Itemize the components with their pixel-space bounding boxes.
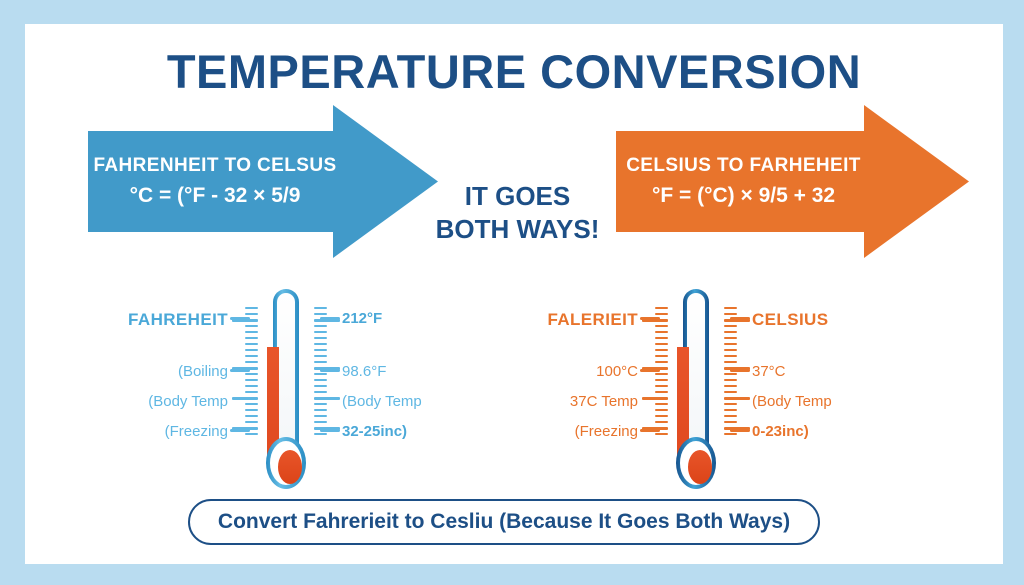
scale-tick-minor <box>314 379 327 381</box>
fahrenheit-thermometer-group: FAHREHEIT (Boiling (Body Temp (Freezing … <box>70 289 500 494</box>
scale-tick-minor <box>245 415 258 417</box>
scale-tick-minor <box>245 391 258 393</box>
scale-tick-minor <box>245 307 258 309</box>
scale-tick-minor <box>245 361 258 363</box>
scale-tick-minor <box>314 433 327 435</box>
scale-tick-minor <box>245 433 258 435</box>
arrow-right-formula: °F = (°C) × 9/5 + 32 <box>652 184 835 207</box>
thermometer-stem-inner <box>277 293 295 458</box>
connector-dash <box>730 369 750 372</box>
center-caption: IT GOES BOTH WAYS! <box>420 180 615 247</box>
thermo-left-label-2: (Body Temp <box>148 394 228 409</box>
scale-tick-minor <box>245 373 258 375</box>
scale-tick-minor <box>245 385 258 387</box>
scale-tick-minor <box>655 361 668 363</box>
connector-dash <box>640 429 660 432</box>
scale-tick-minor <box>245 337 258 339</box>
arrow-right-label: CELSIUS TO FARHEHEIT <box>626 156 861 177</box>
scale-tick-minor <box>655 391 668 393</box>
scale-tick-minor <box>314 331 327 333</box>
connector-dash <box>640 369 660 372</box>
connector-dash <box>230 317 250 320</box>
scale-tick-minor <box>724 313 737 315</box>
scale-tick-minor <box>314 337 327 339</box>
scale-tick-minor <box>245 343 258 345</box>
thermo-right-label-0: CELSIUS <box>752 311 828 328</box>
thermometer-icon <box>260 289 312 494</box>
scale-tick-major <box>314 397 340 400</box>
scale-tick-minor <box>655 373 668 375</box>
scale-tick-minor <box>724 355 737 357</box>
fahrenheit-to-celsius-arrow: FAHRENHEIT TO CELSUS °C = (°F - 32 × 5/9 <box>88 105 438 258</box>
scale-tick-minor <box>245 355 258 357</box>
connector-dash <box>230 429 250 432</box>
scale-tick-minor <box>724 391 737 393</box>
page-title: TEMPERATURE CONVERSION <box>25 44 1003 99</box>
thermo-left-label-1: (Boiling <box>178 364 228 379</box>
scale-tick-minor <box>314 421 327 423</box>
thermo-left-label-2: 37C Temp <box>570 394 638 409</box>
scale-tick-minor <box>314 361 327 363</box>
scale-tick-minor <box>724 331 737 333</box>
scale-tick-minor <box>314 403 327 405</box>
scale-tick-major <box>232 397 258 400</box>
thermo-right-label-1: 98.6°F <box>342 364 386 379</box>
thermometer-bulb <box>676 437 716 489</box>
scale-tick-minor <box>314 307 327 309</box>
scale-tick-minor <box>724 385 737 387</box>
thermo-left-label-3: (Freezing <box>575 424 638 439</box>
scale-tick-minor <box>245 325 258 327</box>
thermometer-scale-right <box>724 307 754 439</box>
scale-tick-minor <box>655 379 668 381</box>
scale-tick-minor <box>314 343 327 345</box>
scale-tick-minor <box>724 349 737 351</box>
scale-tick-minor <box>314 385 327 387</box>
connector-dash <box>320 369 340 372</box>
scale-tick-minor <box>314 349 327 351</box>
scale-tick-minor <box>724 421 737 423</box>
scale-tick-minor <box>724 403 737 405</box>
scale-tick-minor <box>655 307 668 309</box>
scale-tick-minor <box>314 391 327 393</box>
scale-tick-minor <box>724 325 737 327</box>
scale-tick-minor <box>245 313 258 315</box>
thermometer-icon <box>670 289 722 494</box>
scale-tick-minor <box>314 409 327 411</box>
white-card: TEMPERATURE CONVERSION FAHRENHEIT TO CEL… <box>25 24 1003 564</box>
thermo-right-label-3: 0-23inc) <box>752 424 809 439</box>
scale-tick-minor <box>655 409 668 411</box>
thermo-right-label-3: 32-25inc) <box>342 424 407 439</box>
scale-tick-minor <box>314 373 327 375</box>
thermometer-bulb-inner <box>680 441 712 485</box>
center-caption-line1: IT GOES <box>420 180 615 213</box>
thermometer-scale-left <box>228 307 258 439</box>
scale-tick-minor <box>314 415 327 417</box>
scale-tick-minor <box>245 403 258 405</box>
scale-tick-minor <box>655 349 668 351</box>
thermo-left-label-1: 100°C <box>596 364 638 379</box>
scale-tick-minor <box>655 355 668 357</box>
thermo-right-label-0: 212°F <box>342 311 382 326</box>
scale-tick-minor <box>724 415 737 417</box>
scale-tick-minor <box>245 331 258 333</box>
scale-tick-minor <box>655 337 668 339</box>
thermometer-scale-right <box>314 307 344 439</box>
thermo-right-label-2: (Body Temp <box>342 394 422 409</box>
center-caption-line2: BOTH WAYS! <box>420 213 615 246</box>
scale-tick-minor <box>655 343 668 345</box>
thermo-right-label-1: 37°C <box>752 364 786 379</box>
scale-tick-minor <box>724 361 737 363</box>
thermometer-stem-inner <box>687 293 705 458</box>
scale-tick-minor <box>314 355 327 357</box>
connector-dash <box>640 317 660 320</box>
scale-tick-minor <box>314 325 327 327</box>
thermometer-bulb-core <box>688 450 712 484</box>
thermo-left-label-0: FAHREHEIT <box>128 311 228 328</box>
infographic-canvas: TEMPERATURE CONVERSION FAHRENHEIT TO CEL… <box>0 0 1024 585</box>
celsius-thermometer-group: FALERIEIT 100°C 37C Temp (Freezing CELSI… <box>480 289 910 494</box>
connector-dash <box>730 429 750 432</box>
connector-dash <box>320 429 340 432</box>
thermometer-bulb-inner <box>270 441 302 485</box>
scale-tick-minor <box>724 433 737 435</box>
scale-tick-minor <box>314 313 327 315</box>
connector-dash <box>320 317 340 320</box>
scale-tick-minor <box>724 373 737 375</box>
arrow-left-formula: °C = (°F - 32 × 5/9 <box>130 184 301 207</box>
connector-dash <box>230 369 250 372</box>
scale-tick-major <box>642 397 668 400</box>
scale-tick-minor <box>655 325 668 327</box>
scale-tick-minor <box>245 379 258 381</box>
scale-tick-minor <box>245 349 258 351</box>
scale-tick-minor <box>655 421 668 423</box>
thermo-left-label-3: (Freezing <box>165 424 228 439</box>
connector-dash <box>730 317 750 320</box>
scale-tick-minor <box>655 331 668 333</box>
bottom-banner-text: Convert Fahrerieit to Cesliu (Because It… <box>218 510 790 534</box>
bottom-banner: Convert Fahrerieit to Cesliu (Because It… <box>188 499 820 545</box>
scale-tick-minor <box>724 409 737 411</box>
scale-tick-minor <box>655 433 668 435</box>
scale-tick-minor <box>724 343 737 345</box>
thermo-left-label-0: FALERIEIT <box>548 311 639 328</box>
scale-tick-minor <box>655 385 668 387</box>
scale-tick-minor <box>245 409 258 411</box>
arrow-left-label: FAHRENHEIT TO CELSUS <box>93 156 336 177</box>
thermometer-scale-left <box>638 307 668 439</box>
celsius-to-fahrenheit-arrow: CELSIUS TO FARHEHEIT °F = (°C) × 9/5 + 3… <box>616 105 969 258</box>
scale-tick-major <box>724 397 750 400</box>
thermometer-bulb-core <box>278 450 302 484</box>
scale-tick-minor <box>655 403 668 405</box>
scale-tick-minor <box>724 307 737 309</box>
scale-tick-minor <box>724 379 737 381</box>
thermometer-bulb <box>266 437 306 489</box>
scale-tick-minor <box>655 313 668 315</box>
scale-tick-minor <box>724 337 737 339</box>
scale-tick-minor <box>245 421 258 423</box>
scale-tick-minor <box>655 415 668 417</box>
thermo-right-label-2: (Body Temp <box>752 394 832 409</box>
